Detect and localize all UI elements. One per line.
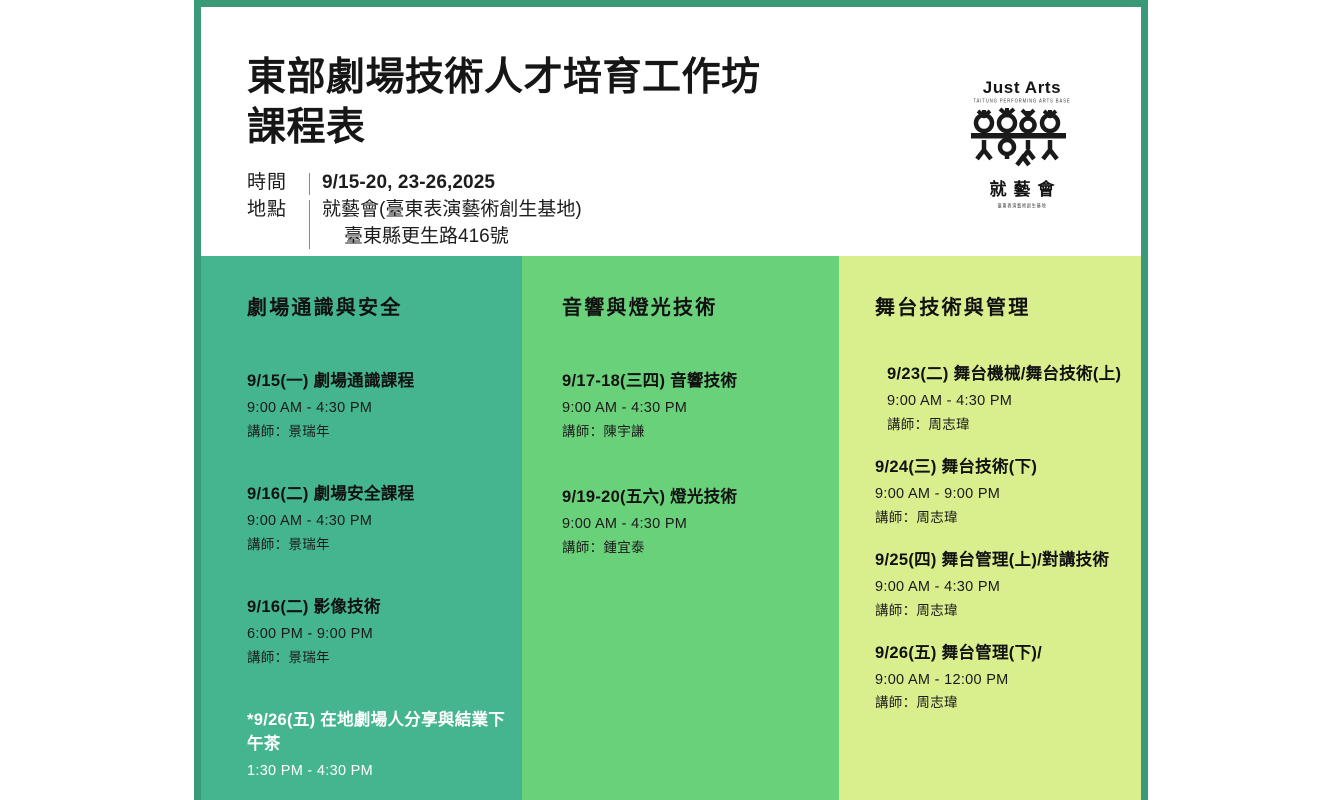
column-entries-2: 9/17-18(三四) 音響技術 9:00 AM - 4:30 PM 講師：陳宇… (562, 370, 823, 558)
entry-title: *9/26(五) 在地劇場人分享與結業下午茶 (247, 709, 506, 757)
entry-time: 9:00 AM - 12:00 PM (875, 670, 1125, 692)
meta-label-place: 地點 (247, 197, 305, 224)
schedule-entry: 9/24(三) 舞台技術(下) 9:00 AM - 9:00 PM 講師：周志瑋 (875, 456, 1125, 528)
meta-row-time: 時間 9/15-20, 23-26,2025 (247, 170, 867, 197)
page-title-line-1: 東部劇場技術人才培育工作坊 (247, 53, 867, 103)
meta-value-address: 臺東縣更生路416號 (322, 224, 582, 251)
meta-value-time: 9/15-20, 23-26,2025 (322, 170, 495, 197)
entry-time: 9:00 AM - 4:30 PM (247, 511, 506, 533)
page-title-line-2: 課程表 (247, 103, 867, 153)
entry-title: 9/19-20(五六) 燈光技術 (562, 486, 823, 510)
schedule-columns: 劇場通識與安全 9/15(一) 劇場通識課程 9:00 AM - 4:30 PM… (201, 256, 1141, 800)
entry-lecturer: 講師：周志瑋 (875, 693, 1125, 713)
logo-chinese-name: 就藝會 (963, 175, 1081, 200)
poster-body: 東部劇場技術人才培育工作坊 課程表 時間 9/15-20, 23-26,2025… (201, 7, 1141, 800)
entry-lecturer: 講師：景瑞年 (247, 648, 506, 668)
entry-time: 6:00 PM - 9:00 PM (247, 624, 506, 646)
entry-title: 9/23(二) 舞台機械/舞台技術(上) (887, 363, 1125, 387)
column-header-1: 劇場通識與安全 (247, 296, 506, 320)
entry-title: 9/15(一) 劇場通識課程 (247, 370, 506, 394)
schedule-entry: 9/25(四) 舞台管理(上)/對講技術 9:00 AM - 4:30 PM 講… (875, 549, 1125, 621)
logo-emblem-icon (963, 107, 1081, 174)
entry-lecturer: 講師：周志瑋 (887, 415, 1125, 435)
meta-value-place-wrap: 就藝會(臺東表演藝術創生基地) 臺東縣更生路416號 (322, 197, 582, 251)
schedule-column-stage-tech: 舞台技術與管理 9/23(二) 舞台機械/舞台技術(上) 9:00 AM - 4… (839, 256, 1141, 800)
entry-time: 9:00 AM - 9:00 PM (875, 484, 1125, 506)
entry-time: 9:00 AM - 4:30 PM (887, 391, 1125, 413)
column-header-2: 音響與燈光技術 (562, 296, 823, 320)
entry-lecturer: 講師：陳宇謙 (562, 422, 823, 442)
meta-label-time: 時間 (247, 170, 305, 197)
entry-time: 9:00 AM - 4:30 PM (247, 398, 506, 420)
poster-header: 東部劇場技術人才培育工作坊 課程表 時間 9/15-20, 23-26,2025… (201, 7, 1141, 256)
schedule-entry: 9/16(二) 劇場安全課程 9:00 AM - 4:30 PM 講師：景瑞年 (247, 483, 506, 555)
header-text-block: 東部劇場技術人才培育工作坊 課程表 時間 9/15-20, 23-26,2025… (247, 53, 867, 251)
entry-lecturer: 講師：景瑞年 (247, 422, 506, 442)
entry-title: 9/16(二) 影像技術 (247, 596, 506, 620)
column-header-3: 舞台技術與管理 (875, 296, 1125, 320)
entry-lecturer: 講師：景瑞年 (247, 535, 506, 555)
logo-wordmark: Just Arts (963, 79, 1081, 96)
schedule-entry: 9/19-20(五六) 燈光技術 9:00 AM - 4:30 PM 講師：鍾宜… (562, 486, 823, 558)
schedule-entry: 9/17-18(三四) 音響技術 9:00 AM - 4:30 PM 講師：陳宇… (562, 370, 823, 442)
entry-title: 9/26(五) 舞台管理(下)/ (875, 642, 1125, 666)
schedule-entry: 9/23(二) 舞台機械/舞台技術(上) 9:00 AM - 4:30 PM 講… (875, 363, 1125, 435)
entry-title: 9/17-18(三四) 音響技術 (562, 370, 823, 394)
column-entries-3: 9/23(二) 舞台機械/舞台技術(上) 9:00 AM - 4:30 PM 講… (875, 363, 1125, 714)
schedule-column-sound-light: 音響與燈光技術 9/17-18(三四) 音響技術 9:00 AM - 4:30 … (522, 256, 839, 800)
logo-tagline: TAITUNG PERFORMING ARTS BASE (963, 98, 1081, 103)
entry-time: 9:00 AM - 4:30 PM (562, 398, 823, 420)
schedule-entry: 9/26(五) 舞台管理(下)/ 9:00 AM - 12:00 PM 講師：周… (875, 642, 1125, 714)
poster-frame: 東部劇場技術人才培育工作坊 課程表 時間 9/15-20, 23-26,2025… (194, 0, 1148, 800)
entry-title: 9/16(二) 劇場安全課程 (247, 483, 506, 507)
entry-time: 9:00 AM - 4:30 PM (875, 577, 1125, 599)
entry-title: 9/24(三) 舞台技術(下) (875, 456, 1125, 480)
meta-value-place: 就藝會(臺東表演藝術創生基地) (322, 199, 582, 220)
schedule-entry-highlight: *9/26(五) 在地劇場人分享與結業下午茶 1:30 PM - 4:30 PM (247, 709, 506, 783)
event-meta: 時間 9/15-20, 23-26,2025 地點 就藝會(臺東表演藝術創生基地… (247, 170, 867, 251)
entry-time: 9:00 AM - 4:30 PM (562, 514, 823, 536)
organization-logo: Just Arts TAITUNG PERFORMING ARTS BASE (963, 79, 1081, 209)
meta-row-place: 地點 就藝會(臺東表演藝術創生基地) 臺東縣更生路416號 (247, 197, 867, 251)
schedule-entry: 9/15(一) 劇場通識課程 9:00 AM - 4:30 PM 講師：景瑞年 (247, 370, 506, 442)
entry-lecturer: 講師：周志瑋 (875, 508, 1125, 528)
schedule-entry: 9/16(二) 影像技術 6:00 PM - 9:00 PM 講師：景瑞年 (247, 596, 506, 668)
column-entries-1: 9/15(一) 劇場通識課程 9:00 AM - 4:30 PM 講師：景瑞年 … (247, 370, 506, 782)
schedule-column-theatre-basics: 劇場通識與安全 9/15(一) 劇場通識課程 9:00 AM - 4:30 PM… (201, 256, 522, 800)
logo-chinese-tagline: 臺東表演藝術創生基地 (963, 202, 1081, 210)
entry-title: 9/25(四) 舞台管理(上)/對講技術 (875, 549, 1125, 573)
meta-divider (309, 173, 310, 195)
meta-divider-2 (309, 200, 310, 249)
entry-lecturer: 講師：周志瑋 (875, 601, 1125, 621)
entry-time: 1:30 PM - 4:30 PM (247, 761, 506, 783)
entry-lecturer: 講師：鍾宜泰 (562, 538, 823, 558)
